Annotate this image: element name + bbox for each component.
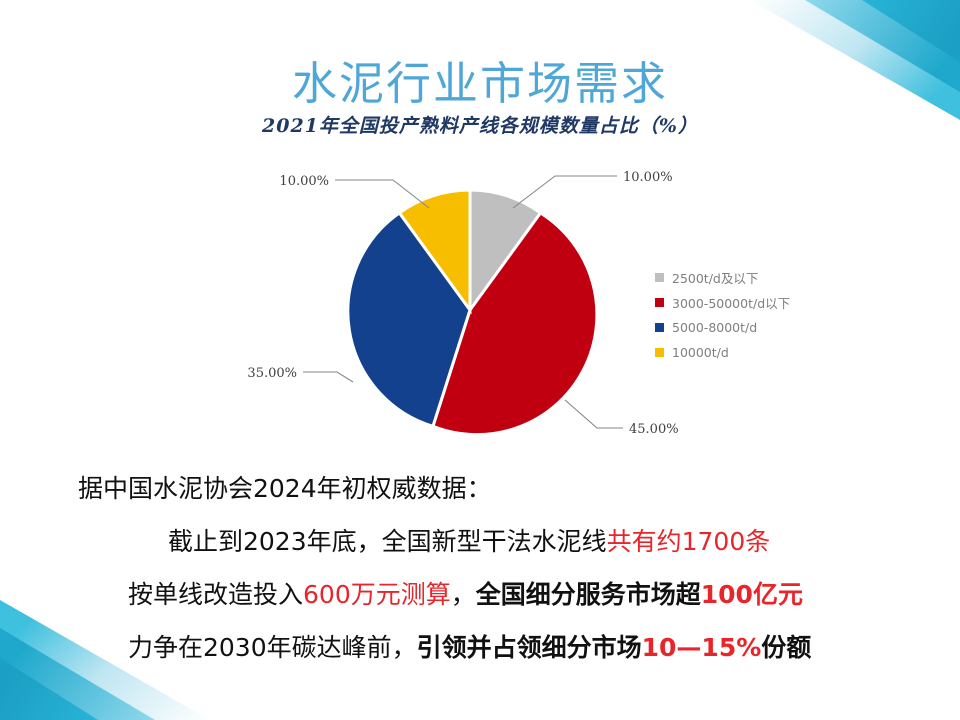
legend-swatch-icon	[655, 273, 664, 282]
body-line-4-bold-suffix: 份额	[761, 633, 811, 662]
leader-line-gray	[513, 176, 617, 208]
body-line-3-comma: ，	[451, 580, 476, 609]
slide-root: 水泥行业市场需求 2021年全国投产熟料产线各规模数量占比（%） 10.00% …	[0, 0, 960, 720]
body-line-3: 按单线改造投入600万元测算，全国细分服务市场超100亿元	[0, 568, 960, 621]
legend-item-label: 3000-50000t/d以下	[672, 293, 790, 312]
body-line-2-text: 截止到2023年底，全国新型干法水泥线	[168, 527, 607, 556]
body-line-3-highlight-total: 100亿元	[701, 580, 803, 609]
body-line-3-highlight-amount: 600万元测算	[303, 580, 451, 609]
body-line-2-highlight: 共有约1700条	[607, 527, 771, 556]
chart-subtitle: 2021年全国投产熟料产线各规模数量占比（%）	[0, 114, 960, 138]
legend-item-label: 2500t/d及以下	[672, 268, 758, 287]
legend-item-label: 10000t/d	[672, 345, 729, 360]
body-line-3-text: 按单线改造投入	[128, 580, 303, 609]
legend-item-label: 5000-8000t/d	[672, 320, 757, 335]
pie-data-label-gray: 10.00%	[623, 170, 673, 185]
body-line-4-highlight-share: 10—15%	[642, 633, 762, 662]
legend-item[interactable]: 5000-8000t/d	[655, 318, 855, 337]
body-text-block: 据中国水泥协会2024年初权威数据： 截止到2023年底，全国新型干法水泥线共有…	[0, 462, 960, 674]
legend-item[interactable]: 2500t/d及以下	[655, 268, 855, 287]
legend-swatch-icon	[655, 298, 664, 307]
body-line-4-bold: 引领并占领细分市场	[417, 633, 642, 662]
body-line-4-text: 力争在2030年碳达峰前，	[128, 633, 417, 662]
leader-line-red	[565, 400, 623, 428]
pie-data-label-red: 45.00%	[629, 422, 679, 437]
legend-swatch-icon	[655, 323, 664, 332]
page-title: 水泥行业市场需求	[0, 58, 960, 110]
heading-block: 水泥行业市场需求 2021年全国投产熟料产线各规模数量占比（%）	[0, 58, 960, 138]
legend-swatch-icon	[655, 348, 664, 357]
pie-data-label-navy: 35.00%	[247, 366, 297, 381]
body-line-2: 截止到2023年底，全国新型干法水泥线共有约1700条	[0, 515, 960, 568]
pie-data-label-gold: 10.00%	[279, 174, 329, 189]
chart-legend: 2500t/d及以下 3000-50000t/d以下 5000-8000t/d …	[655, 268, 855, 368]
body-line-4: 力争在2030年碳达峰前，引领并占领细分市场10—15%份额	[0, 621, 960, 674]
body-line-1: 据中国水泥协会2024年初权威数据：	[0, 462, 960, 515]
body-line-3-bold: 全国细分服务市场超	[476, 580, 701, 609]
legend-item[interactable]: 10000t/d	[655, 343, 855, 362]
body-line-1-text: 据中国水泥协会2024年初权威数据：	[78, 474, 492, 503]
leader-line-navy	[303, 372, 353, 382]
legend-item[interactable]: 3000-50000t/d以下	[655, 293, 855, 312]
